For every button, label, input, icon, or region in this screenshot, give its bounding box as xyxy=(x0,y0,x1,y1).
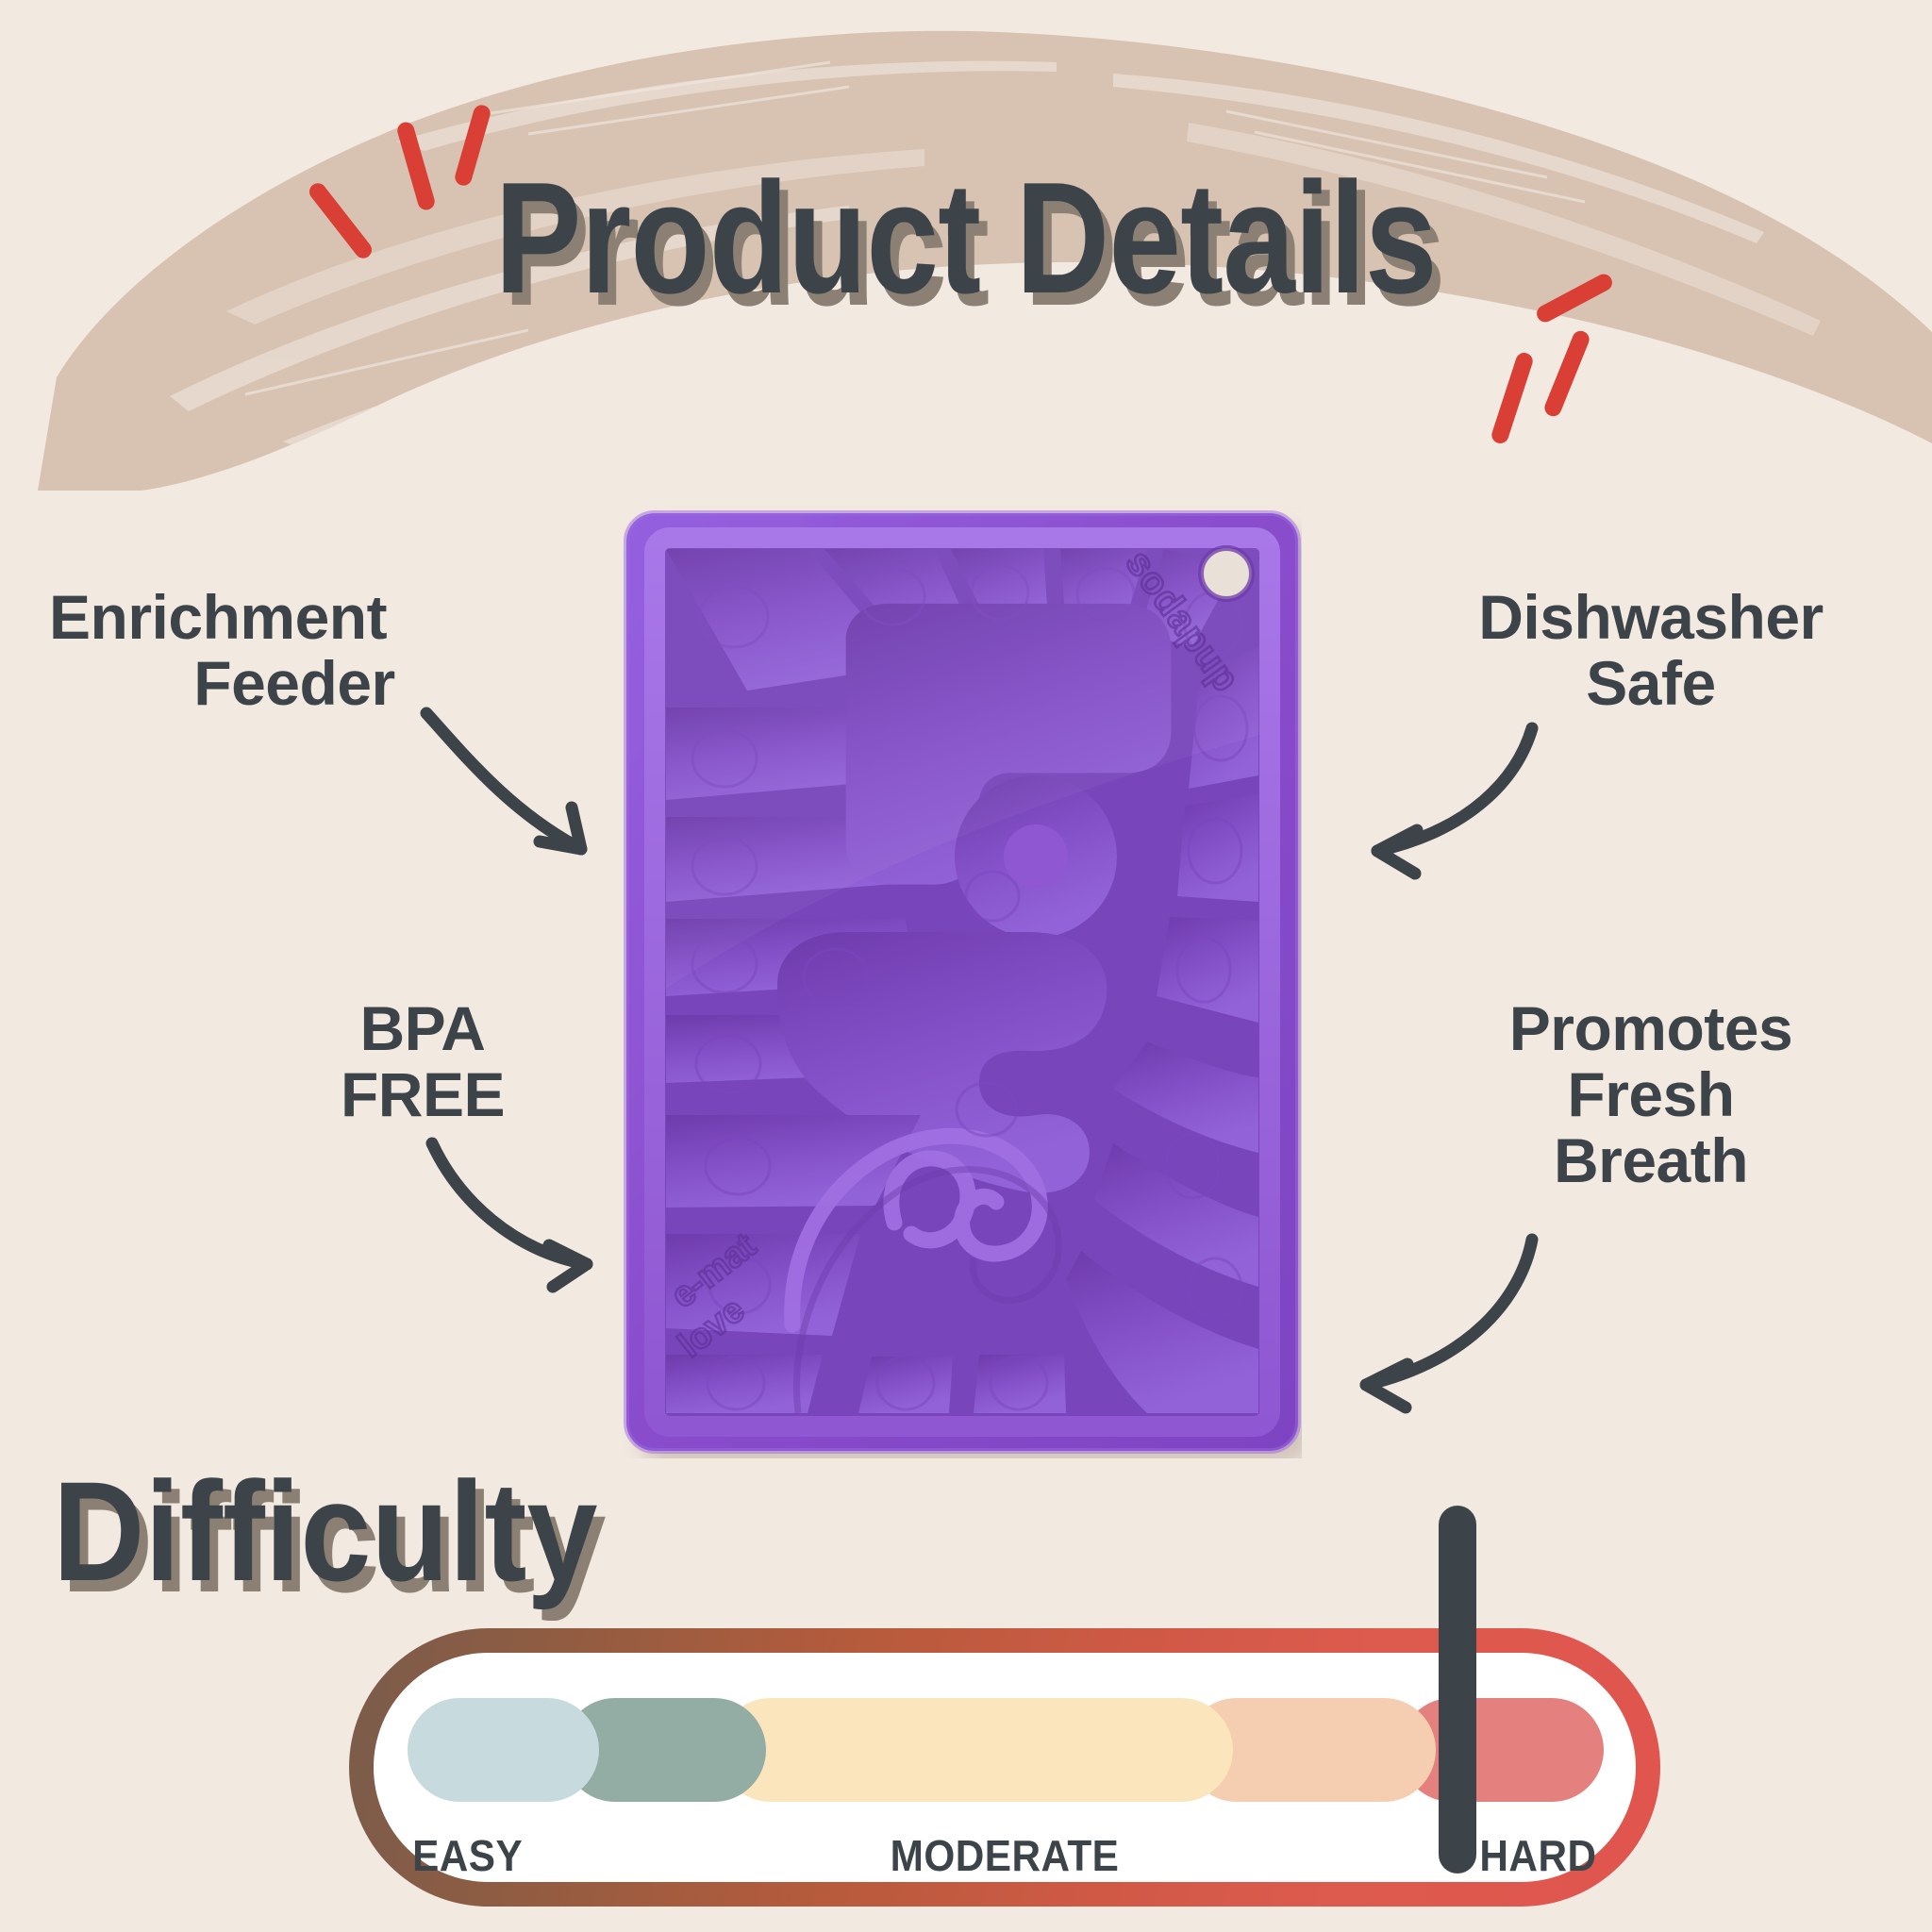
feature-bpa-free: BPA FREE xyxy=(243,996,602,1128)
arrow-promotes-fresh-breath-icon xyxy=(1321,1226,1557,1415)
page-title-block: Product Details xyxy=(0,158,1932,317)
difficulty-label-moderate: MODERATE xyxy=(891,1830,1120,1881)
feature-promotes-fresh-breath: Promotes Fresh Breath xyxy=(1396,996,1906,1194)
feature-line: Promotes xyxy=(1396,996,1906,1062)
hanging-hole xyxy=(1201,548,1252,599)
feature-line: BPA xyxy=(243,996,602,1062)
difficulty-label-hard: HARD xyxy=(1480,1830,1597,1881)
arrow-enrichment-feeder-icon xyxy=(406,698,641,896)
feature-line: Breath xyxy=(1396,1128,1906,1194)
feature-line: FREE xyxy=(243,1062,602,1128)
lick-mat-illustration: sodapup e-mat love xyxy=(623,506,1302,1458)
feature-enrichment-feeder: Enrichment Feeder xyxy=(49,585,540,717)
difficulty-label-easy: EASY xyxy=(412,1830,523,1881)
feature-line: Fresh xyxy=(1396,1062,1906,1128)
difficulty-segment-easy xyxy=(408,1698,599,1802)
feature-line: Enrichment xyxy=(49,585,540,651)
difficulty-heading: Difficulty xyxy=(53,1460,598,1602)
page-title: Product Details xyxy=(495,158,1437,317)
product-image: sodapup e-mat love xyxy=(623,506,1302,1458)
difficulty-meter[interactable]: EASY MODERATE HARD xyxy=(349,1628,1660,1907)
arrow-dishwasher-safe-icon xyxy=(1338,717,1555,887)
difficulty-indicator[interactable] xyxy=(1439,1506,1476,1874)
feature-dishwasher-safe: Dishwasher Safe xyxy=(1396,585,1906,717)
difficulty-tick-labels: EASY MODERATE HARD xyxy=(408,1830,1602,1881)
feature-line: Dishwasher xyxy=(1396,585,1906,651)
arrow-bpa-free-icon xyxy=(415,1132,632,1302)
difficulty-segment-moderate xyxy=(719,1698,1233,1802)
infographic-canvas: Product Details xyxy=(0,0,1932,1932)
difficulty-segments xyxy=(408,1698,1604,1802)
feature-line: Safe xyxy=(1396,651,1906,717)
